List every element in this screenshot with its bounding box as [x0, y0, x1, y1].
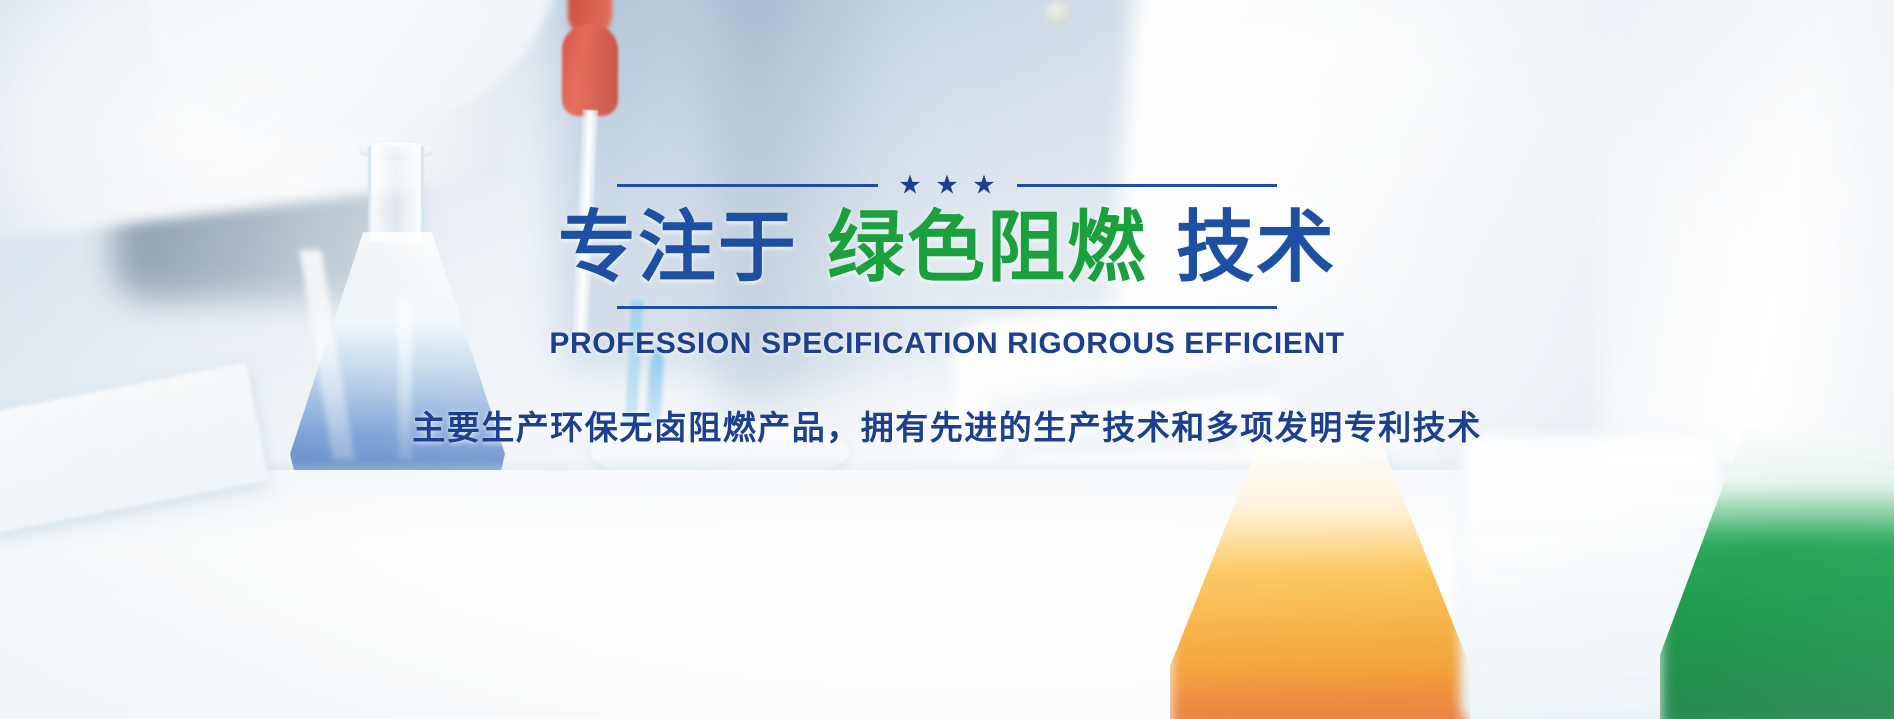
page-title: 专注于 绿色阻燃 技术: [558, 207, 1336, 290]
banner-content: 专注于 绿色阻燃 技术 PROFESSION SPECIFICATION RIG…: [0, 0, 1894, 719]
subtitle-chinese: 主要生产环保无卤阻燃产品，拥有先进的生产技术和多项发明专利技术: [412, 401, 1482, 449]
headline-part-2: 绿色阻燃: [827, 203, 1147, 293]
star-group: [900, 175, 995, 196]
star-icon: [937, 175, 958, 196]
star-icon: [900, 175, 921, 196]
hero-banner: 专注于 绿色阻燃 技术 PROFESSION SPECIFICATION RIG…: [0, 0, 1894, 719]
subtitle-english: PROFESSION SPECIFICATION RIGOROUS EFFICI…: [549, 327, 1344, 361]
divider-line-left: [617, 184, 878, 187]
divider-line-right: [1017, 184, 1278, 187]
divider-line-bottom: [617, 306, 1277, 309]
star-icon: [974, 175, 995, 196]
headline-part-1: 专注于: [558, 203, 798, 293]
headline-part-3: 技术: [1176, 203, 1336, 293]
divider-with-stars: [617, 173, 1277, 197]
